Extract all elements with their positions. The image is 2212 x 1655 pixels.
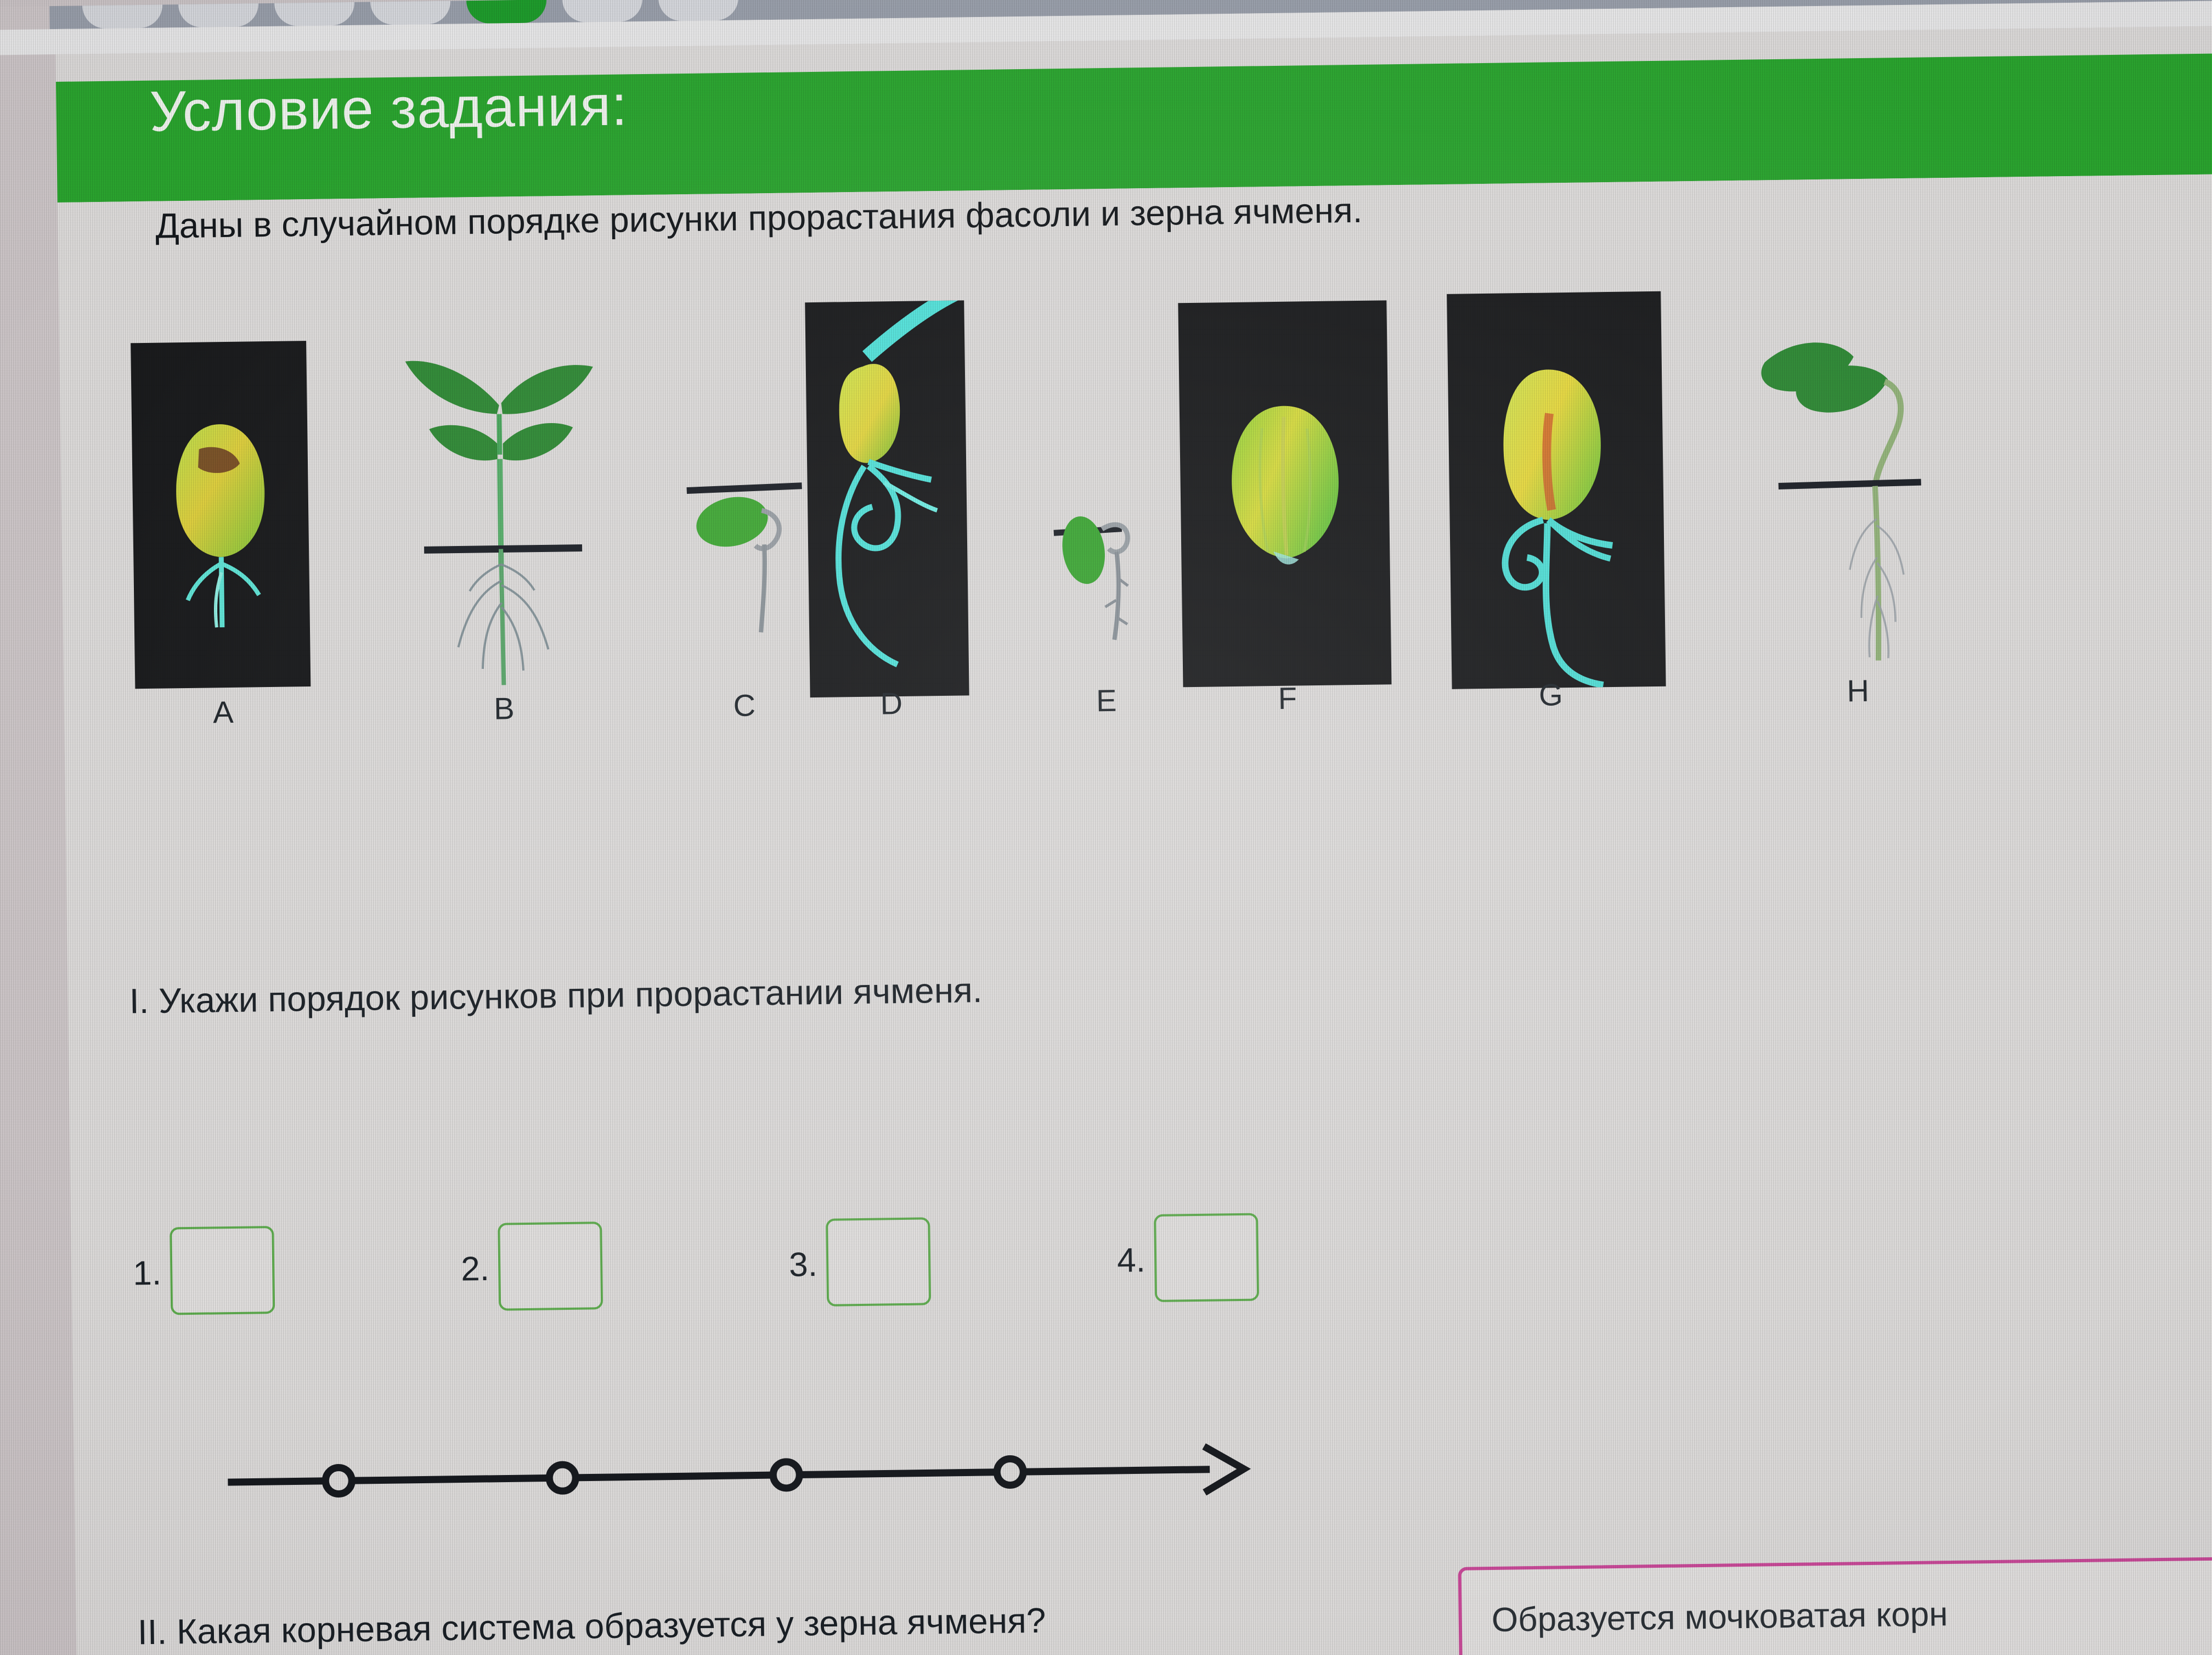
- browser-tab-6[interactable]: [562, 0, 643, 22]
- browser-tab-4[interactable]: [370, 1, 451, 25]
- bean-seedling-leaves-icon: [388, 305, 612, 686]
- figure-caption-a: A: [190, 694, 257, 730]
- root-system-dropdown-value: Образуется мочковатая корн: [1491, 1595, 1948, 1640]
- figure-caption-d: D: [858, 685, 924, 722]
- browser-tab-active[interactable]: [466, 0, 547, 24]
- answer-input-1[interactable]: [170, 1226, 275, 1315]
- figure-h: [1738, 320, 1951, 663]
- screen-photo: Условие задания: Даны в случайном порядк…: [0, 0, 2212, 1655]
- figure-caption-g: G: [1517, 677, 1584, 713]
- browser-tab-2[interactable]: [178, 3, 259, 27]
- figure-caption-b: B: [471, 690, 537, 727]
- browser-tab-7[interactable]: [658, 0, 739, 21]
- root-system-dropdown[interactable]: Образуется мочковатая корн: [1458, 1557, 2212, 1655]
- barley-grain-roots-icon: [1447, 291, 1666, 689]
- answer-number-3: 3.: [789, 1245, 818, 1285]
- figure-d: [805, 300, 969, 697]
- figure-caption-c: C: [711, 687, 777, 724]
- page-title: Условие задания:: [149, 73, 628, 144]
- answer-input-4[interactable]: [1154, 1213, 1259, 1302]
- answer-boxes-row: 1. 2. 3. 4.: [132, 1205, 1450, 1321]
- figure-g: [1447, 291, 1666, 689]
- figure-caption-e: E: [1073, 682, 1139, 719]
- figure-f: [1178, 300, 1391, 687]
- browser-tab-1[interactable]: [82, 4, 163, 29]
- barley-grain-sprouted-icon: [131, 341, 311, 689]
- figure-c: [681, 467, 826, 650]
- page-body: Условие задания: Даны в случайном порядк…: [55, 26, 2212, 1655]
- figure-caption-f: F: [1254, 680, 1321, 717]
- answer-input-2[interactable]: [498, 1221, 603, 1310]
- figure-b: [388, 305, 612, 686]
- figure-e: [1048, 468, 1160, 651]
- barley-grain-shoot-icon: [805, 300, 969, 697]
- figure-caption-h: H: [1825, 672, 1891, 709]
- bean-seedling-cotyledon-icon: [1738, 320, 1951, 663]
- answer-number-2: 2.: [461, 1249, 490, 1289]
- figure-strip: A: [130, 286, 2087, 652]
- sequence-arrow-line: [222, 1432, 1265, 1517]
- browser-tab-3[interactable]: [274, 2, 355, 26]
- figure-a: [131, 341, 311, 689]
- arrow-with-nodes-icon: [222, 1432, 1265, 1517]
- barley-grain-icon: [1178, 300, 1391, 687]
- answer-input-3[interactable]: [826, 1217, 931, 1306]
- answer-number-4: 4.: [1117, 1241, 1146, 1280]
- bean-seed-root-icon: [681, 467, 826, 650]
- answer-number-1: 1.: [133, 1254, 162, 1293]
- screen-content: Условие задания: Даны в случайном порядк…: [0, 0, 2212, 1655]
- bean-seed-hook-icon: [1048, 468, 1160, 651]
